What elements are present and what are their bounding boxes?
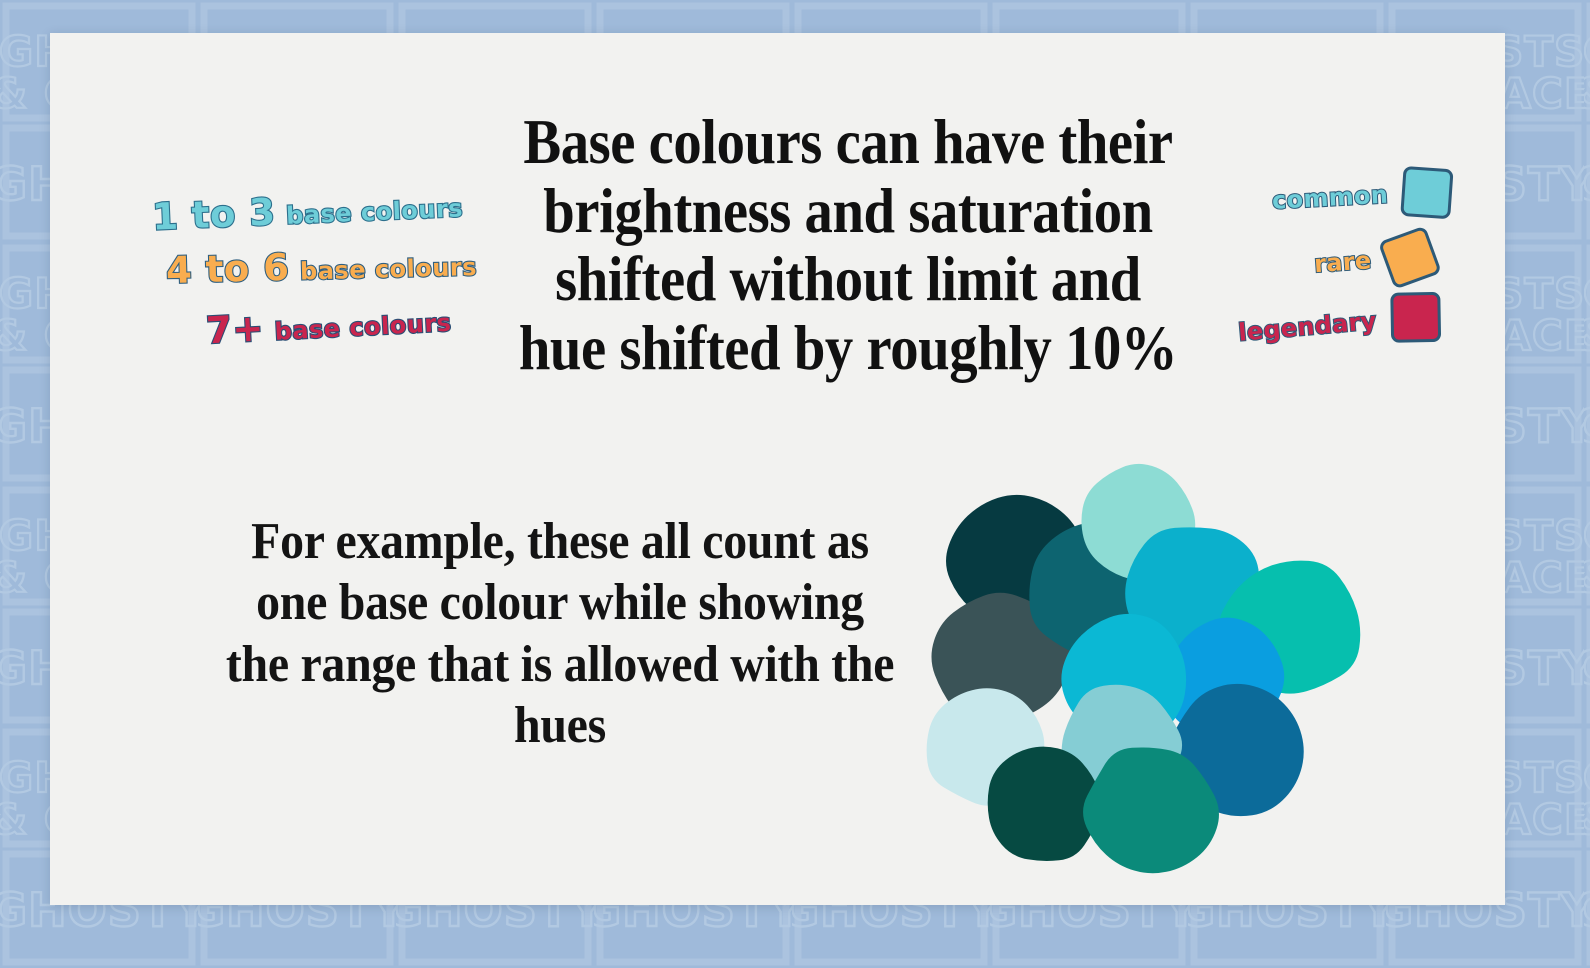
tier-item-1-to-3-count: 1 to 3: [151, 190, 276, 238]
tier-item-7-plus-count: 7+: [205, 306, 265, 352]
tier-item-4-to-6: 4 to 6 base colours: [165, 241, 477, 292]
tier-item-1-to-3-label: base colours: [286, 194, 464, 230]
tier-item-4-to-6-label: base colours: [300, 253, 478, 286]
legend-label-rare: rare: [1313, 246, 1372, 278]
legend-swatch-rare-icon: [1378, 225, 1442, 289]
legend-row-legendary: legendary: [1236, 290, 1442, 357]
tier-item-7-plus-label: base colours: [274, 309, 452, 346]
tier-item-1-to-3: 1 to 3 base colours: [151, 182, 463, 239]
legend-label-common: common: [1271, 181, 1388, 215]
body-paragraph: For example, these all count as one base…: [220, 511, 901, 756]
colour-blob-cluster: [905, 463, 1335, 863]
base-colour-tier-list: 1 to 3 base colours 4 to 6 base colours …: [110, 153, 510, 373]
legend-row-common: common: [1271, 166, 1453, 225]
slide-stage: GHOSTS & GRACE GHOSTY Base colours can h…: [0, 0, 1590, 968]
legend-swatch-legendary-icon: [1390, 292, 1441, 343]
tier-item-7-plus: 7+ base colours: [205, 297, 452, 353]
slide-card: Base colours can have their brightness a…: [50, 33, 1505, 905]
tier-item-4-to-6-count: 4 to 6: [165, 246, 289, 292]
page-title: Base colours can have their brightness a…: [506, 108, 1190, 383]
rarity-legend: common rare legendary: [1230, 163, 1490, 363]
legend-swatch-common-icon: [1400, 166, 1453, 219]
legend-row-rare: rare: [1312, 231, 1437, 289]
legend-label-legendary: legendary: [1237, 307, 1378, 347]
